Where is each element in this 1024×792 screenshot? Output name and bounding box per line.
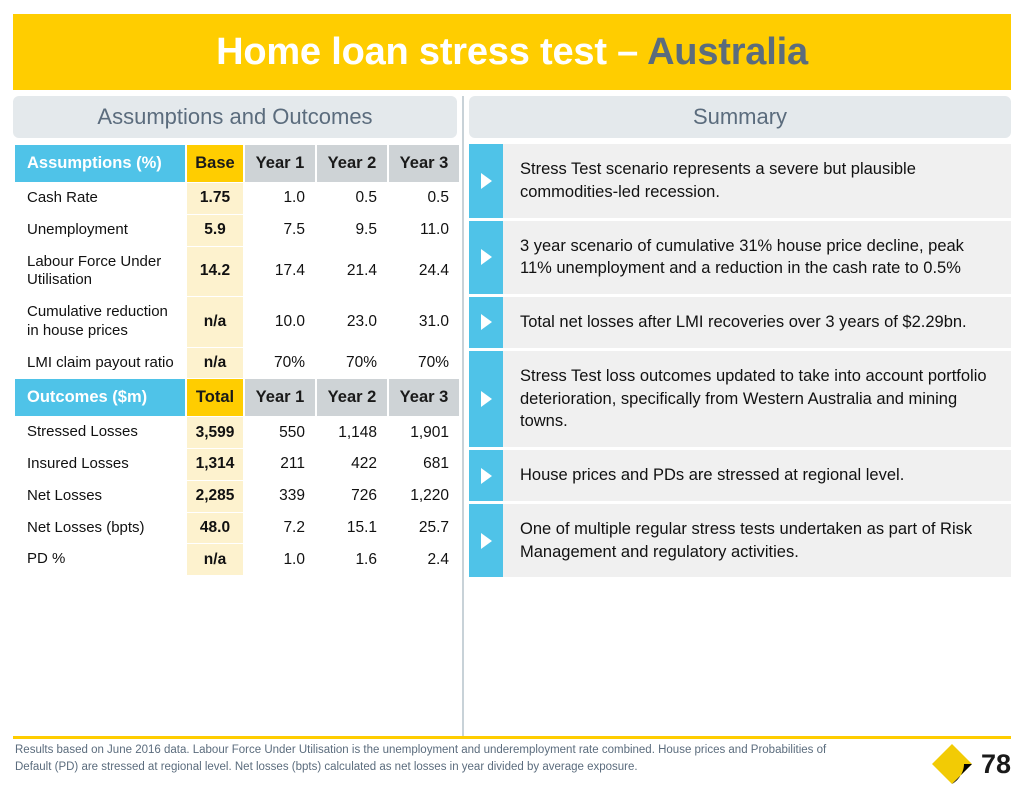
summary-bullet-item: One of multiple regular stress tests und… bbox=[469, 504, 1011, 578]
table-cell-year-2-value: 15.1 bbox=[317, 513, 387, 544]
triangle-right-icon bbox=[481, 533, 492, 549]
panel-header-assumptions-and-outcomes: Assumptions and Outcomes bbox=[13, 96, 457, 138]
table-row: LMI claim payout ration/a70%70%70% bbox=[15, 348, 459, 379]
summary-bullet-item: Stress Test loss outcomes updated to tak… bbox=[469, 351, 1011, 447]
table-header-row-outcomes: Outcomes ($m)TotalYear 1Year 2Year 3 bbox=[15, 379, 459, 416]
triangle-right-icon bbox=[481, 249, 492, 265]
summary-bullet-marker bbox=[469, 221, 503, 295]
table-header-cell-base: Total bbox=[187, 379, 243, 416]
triangle-right-icon bbox=[481, 314, 492, 330]
commbank-diamond-logo-icon bbox=[931, 743, 973, 785]
table-header-cell-label: Outcomes ($m) bbox=[15, 379, 185, 416]
table-row: Labour Force Under Utilisation14.217.421… bbox=[15, 247, 459, 297]
table-cell-row-label: Unemployment bbox=[15, 215, 185, 246]
slide-title-bar: Home loan stress test – Australia bbox=[13, 14, 1011, 90]
table-cell-year-2-value: 422 bbox=[317, 449, 387, 480]
table-cell-year-1-value: 70% bbox=[245, 348, 315, 379]
summary-bullet-item: Total net losses after LMI recoveries ov… bbox=[469, 297, 1011, 348]
table-cell-row-label: Cumulative reduction in house prices bbox=[15, 297, 185, 347]
table-cell-base-value: 3,599 bbox=[187, 417, 243, 448]
table-cell-year-2-value: 1,148 bbox=[317, 417, 387, 448]
table-cell-year-2-value: 70% bbox=[317, 348, 387, 379]
table-cell-base-value: 1,314 bbox=[187, 449, 243, 480]
table-cell-year-1-value: 339 bbox=[245, 481, 315, 512]
table-header-cell-base: Base bbox=[187, 145, 243, 182]
table-cell-year-1-value: 7.2 bbox=[245, 513, 315, 544]
table-cell-year-3-value: 70% bbox=[389, 348, 459, 379]
table-cell-year-2-value: 9.5 bbox=[317, 215, 387, 246]
table-cell-year-1-value: 1.0 bbox=[245, 544, 315, 575]
table-header-cell-year-1: Year 1 bbox=[245, 145, 315, 182]
table-cell-year-3-value: 24.4 bbox=[389, 247, 459, 297]
table-cell-row-label: Net Losses bbox=[15, 481, 185, 512]
slide-canvas: Home loan stress test – Australia .title… bbox=[0, 0, 1024, 792]
table-cell-row-label: Net Losses (bpts) bbox=[15, 513, 185, 544]
table-cell-year-3-value: 681 bbox=[389, 449, 459, 480]
table-cell-year-1-value: 1.0 bbox=[245, 183, 315, 214]
summary-bullet-item: Stress Test scenario represents a severe… bbox=[469, 144, 1011, 218]
summary-bullet-marker bbox=[469, 450, 503, 501]
summary-bullet-item: House prices and PDs are stressed at reg… bbox=[469, 450, 1011, 501]
triangle-right-icon bbox=[481, 468, 492, 484]
panel-header-left-label: Assumptions and Outcomes bbox=[97, 104, 372, 130]
summary-bullet-marker bbox=[469, 297, 503, 348]
footnote-text: Results based on June 2016 data. Labour … bbox=[15, 742, 845, 775]
table-header-cell-year-2: Year 2 bbox=[317, 145, 387, 182]
table-cell-year-1-value: 7.5 bbox=[245, 215, 315, 246]
table-cell-year-2-value: 726 bbox=[317, 481, 387, 512]
summary-bullet-marker bbox=[469, 144, 503, 218]
panel-header-right-label: Summary bbox=[693, 104, 787, 130]
summary-bullet-text: Stress Test scenario represents a severe… bbox=[503, 144, 1011, 218]
table-row: Insured Losses1,314211422681 bbox=[15, 449, 459, 480]
table-header-cell-year-2: Year 2 bbox=[317, 379, 387, 416]
summary-bullet-text: 3 year scenario of cumulative 31% house … bbox=[503, 221, 1011, 295]
panel-divider bbox=[462, 96, 464, 736]
page-number: 78 bbox=[981, 751, 1011, 778]
table-cell-row-label: LMI claim payout ratio bbox=[15, 348, 185, 379]
table-row: PD %n/a1.01.62.4 bbox=[15, 544, 459, 575]
table-cell-year-3-value: 2.4 bbox=[389, 544, 459, 575]
brand-block: 78 bbox=[901, 740, 1011, 788]
table-cell-row-label: Cash Rate bbox=[15, 183, 185, 214]
summary-bullet-marker bbox=[469, 351, 503, 447]
table-cell-year-3-value: 11.0 bbox=[389, 215, 459, 246]
page-title: Home loan stress test – Australia bbox=[216, 31, 808, 74]
table-cell-base-value: 48.0 bbox=[187, 513, 243, 544]
table-cell-year-3-value: 1,220 bbox=[389, 481, 459, 512]
summary-bullet-item: 3 year scenario of cumulative 31% house … bbox=[469, 221, 1011, 295]
summary-bullet-text: Stress Test loss outcomes updated to tak… bbox=[503, 351, 1011, 447]
page-title-accent: Australia bbox=[647, 31, 808, 73]
summary-bullet-text: One of multiple regular stress tests und… bbox=[503, 504, 1011, 578]
table-cell-year-2-value: 21.4 bbox=[317, 247, 387, 297]
table-cell-year-1-value: 17.4 bbox=[245, 247, 315, 297]
table-cell-year-3-value: 0.5 bbox=[389, 183, 459, 214]
table-cell-year-3-value: 25.7 bbox=[389, 513, 459, 544]
table-cell-year-1-value: 550 bbox=[245, 417, 315, 448]
summary-bullet-marker bbox=[469, 504, 503, 578]
summary-bullet-text: Total net losses after LMI recoveries ov… bbox=[503, 297, 1011, 348]
table-header-cell-label: Assumptions (%) bbox=[15, 145, 185, 182]
table-row: Stressed Losses3,5995501,1481,901 bbox=[15, 417, 459, 448]
table-cell-year-2-value: 23.0 bbox=[317, 297, 387, 347]
table-cell-row-label: PD % bbox=[15, 544, 185, 575]
table-cell-year-3-value: 1,901 bbox=[389, 417, 459, 448]
table-row: Cash Rate1.751.00.50.5 bbox=[15, 183, 459, 214]
triangle-right-icon bbox=[481, 391, 492, 407]
table-cell-base-value: n/a bbox=[187, 348, 243, 379]
footer-divider-rule bbox=[13, 736, 1011, 739]
page-title-dash: – bbox=[617, 31, 647, 73]
table-cell-year-2-value: 1.6 bbox=[317, 544, 387, 575]
table-cell-base-value: 2,285 bbox=[187, 481, 243, 512]
table-cell-row-label: Labour Force Under Utilisation bbox=[15, 247, 185, 297]
table-header-cell-year-1: Year 1 bbox=[245, 379, 315, 416]
table-cell-year-1-value: 10.0 bbox=[245, 297, 315, 347]
table-row: Unemployment5.97.59.511.0 bbox=[15, 215, 459, 246]
summary-bullet-list: Stress Test scenario represents a severe… bbox=[469, 144, 1011, 580]
page-title-main: Home loan stress test bbox=[216, 31, 617, 73]
table-row: Cumulative reduction in house pricesn/a1… bbox=[15, 297, 459, 347]
assumptions-and-outcomes-table-wrapper: Assumptions (%)BaseYear 1Year 2Year 3Cas… bbox=[13, 144, 457, 576]
table-header-row-assumptions: Assumptions (%)BaseYear 1Year 2Year 3 bbox=[15, 145, 459, 182]
table-cell-base-value: 14.2 bbox=[187, 247, 243, 297]
table-cell-row-label: Stressed Losses bbox=[15, 417, 185, 448]
stress-test-table: Assumptions (%)BaseYear 1Year 2Year 3Cas… bbox=[13, 144, 461, 576]
panel-header-summary: Summary bbox=[469, 96, 1011, 138]
table-cell-base-value: 1.75 bbox=[187, 183, 243, 214]
table-cell-year-3-value: 31.0 bbox=[389, 297, 459, 347]
triangle-right-icon bbox=[481, 173, 492, 189]
table-cell-base-value: n/a bbox=[187, 297, 243, 347]
table-cell-base-value: n/a bbox=[187, 544, 243, 575]
table-header-cell-year-3: Year 3 bbox=[389, 379, 459, 416]
table-header-cell-year-3: Year 3 bbox=[389, 145, 459, 182]
table-cell-row-label: Insured Losses bbox=[15, 449, 185, 480]
table-cell-year-2-value: 0.5 bbox=[317, 183, 387, 214]
summary-bullet-text: House prices and PDs are stressed at reg… bbox=[503, 450, 1011, 501]
table-cell-base-value: 5.9 bbox=[187, 215, 243, 246]
table-row: Net Losses2,2853397261,220 bbox=[15, 481, 459, 512]
table-cell-year-1-value: 211 bbox=[245, 449, 315, 480]
table-row: Net Losses (bpts)48.07.215.125.7 bbox=[15, 513, 459, 544]
